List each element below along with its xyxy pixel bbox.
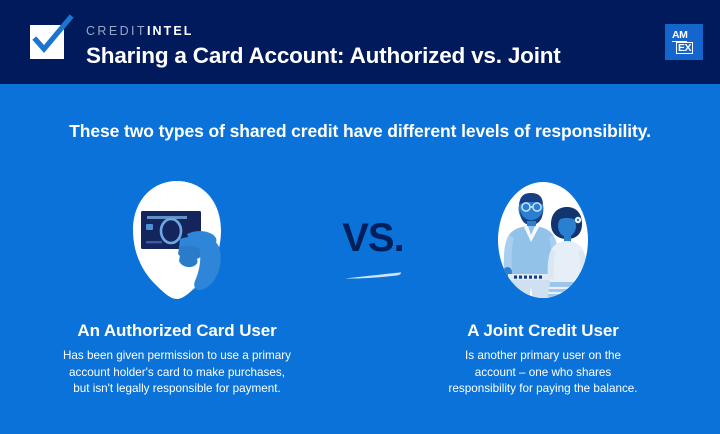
page-title: Sharing a Card Account: Authorized vs. J… — [86, 41, 561, 71]
subtitle-text: These two types of shared credit have di… — [0, 121, 720, 142]
amex-am-text: AM — [672, 30, 687, 42]
amex-logo: AM EX — [665, 24, 703, 60]
left-body-line-2: account holder's card to make purchases, — [12, 365, 342, 382]
right-body-line-2: account – one who shares — [378, 365, 708, 382]
right-body-line-1: Is another primary user on the — [378, 348, 708, 365]
brand-intel-text: INTEL — [147, 24, 194, 38]
hand-holding-credit-card-icon — [117, 178, 237, 302]
amex-logo-inner: AM EX — [671, 30, 697, 55]
left-caption-body: Has been given permission to use a prima… — [12, 348, 342, 398]
header-bar: CREDITINTEL Sharing a Card Account: Auth… — [0, 0, 720, 84]
right-body-line-3: responsibility for paying the balance. — [378, 381, 708, 398]
left-body-line-3: but isn't legally responsible for paymen… — [12, 381, 342, 398]
right-caption-body: Is another primary user on the account –… — [378, 348, 708, 398]
comparison-column-authorized: An Authorized Card User Has been given p… — [12, 178, 342, 398]
checkbox-checked-icon — [30, 25, 64, 59]
right-caption-title: A Joint Credit User — [378, 320, 708, 342]
infographic-root: CREDITINTEL Sharing a Card Account: Auth… — [0, 0, 720, 434]
brand-credit-text: CREDIT — [86, 24, 147, 38]
left-body-line-1: Has been given permission to use a prima… — [12, 348, 342, 365]
left-caption-title: An Authorized Card User — [12, 320, 342, 342]
comparison-column-joint: A Joint Credit User Is another primary u… — [378, 178, 708, 398]
amex-ex-text: EX — [676, 42, 693, 54]
two-people-couple-icon — [483, 178, 603, 302]
brand-wordmark: CREDITINTEL — [86, 24, 194, 38]
